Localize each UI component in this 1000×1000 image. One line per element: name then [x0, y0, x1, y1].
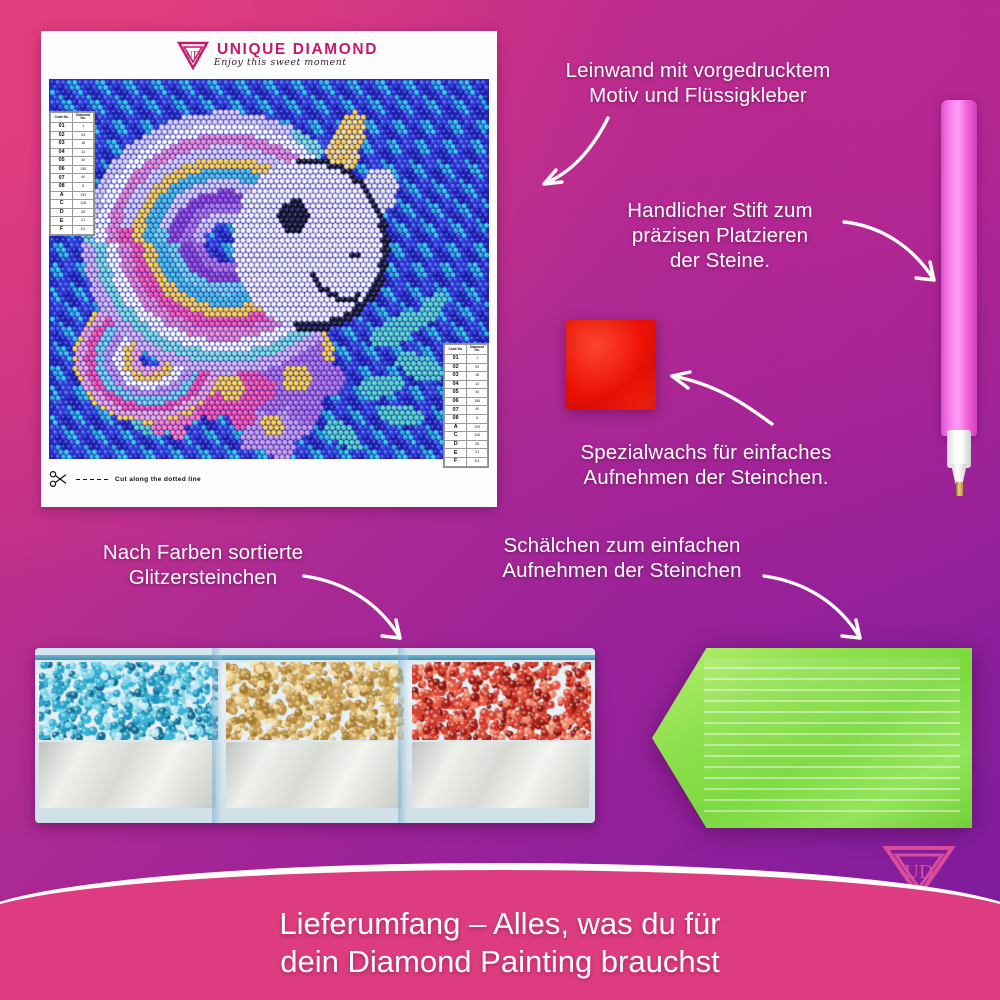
- legend-code: 06: [445, 397, 467, 406]
- cut-instruction-text: Cut along the dotted line: [115, 476, 201, 483]
- brand-tagline: Enjoy this sweet moment: [214, 59, 347, 68]
- legend-row: D26: [51, 208, 94, 217]
- legend-row: 0293: [445, 363, 488, 372]
- legend-count: 193: [73, 191, 94, 200]
- legend-code: 04: [51, 148, 73, 157]
- legend-code: 05: [51, 157, 73, 166]
- tray-grooves: [704, 658, 960, 818]
- bag-label: [412, 742, 589, 808]
- legend-row: 0318: [51, 140, 94, 149]
- pen-body: [941, 100, 977, 436]
- tray-groove: [704, 777, 960, 779]
- legend-count: 21: [73, 217, 94, 226]
- banner-line-2: dein Diamond Painting brauchst: [279, 943, 720, 981]
- unique-diamond-logo-icon: UD: [176, 40, 210, 70]
- legend-code: 02: [445, 363, 467, 372]
- legend-count: 118: [73, 200, 94, 209]
- legend-code: A: [445, 423, 467, 432]
- legend-count: 5: [73, 183, 94, 192]
- legend-header-code: Code No.: [51, 113, 73, 123]
- legend-row: 011: [51, 122, 94, 131]
- legend-code: 08: [51, 183, 73, 192]
- legend-count: 26: [73, 208, 94, 217]
- tray-groove: [704, 799, 960, 801]
- bag-beads: [226, 662, 405, 740]
- legend-code: 03: [51, 140, 73, 149]
- legend-count: 18: [73, 140, 94, 149]
- tray-body: [652, 648, 972, 828]
- pen-neck: [947, 430, 971, 468]
- legend-count: 155: [467, 397, 488, 406]
- legend-code: 06: [51, 165, 73, 174]
- tray-groove: [704, 667, 960, 669]
- legend-code: C: [51, 200, 73, 209]
- legend-row: E21: [51, 217, 94, 226]
- legend-count: 26: [467, 440, 488, 449]
- legend-code: A: [51, 191, 73, 200]
- legend-count: 44: [73, 157, 94, 166]
- svg-text:UD: UD: [186, 50, 200, 61]
- wax-block: [566, 320, 656, 410]
- diamond-painting-pen: [941, 100, 977, 496]
- bottom-banner: Lieferumfang – Alles, was du für dein Di…: [0, 863, 1000, 1000]
- infographic-canvas: UD UNIQUE DIAMOND Enjoy this sweet momen…: [0, 0, 1000, 1000]
- bag-divider: [212, 648, 222, 823]
- legend-code: 02: [51, 131, 73, 140]
- legend-row: A193: [445, 423, 488, 432]
- legend-row: 0544: [445, 389, 488, 398]
- legend-count: 21: [467, 449, 488, 458]
- blue-beads-bag: [35, 648, 222, 823]
- bag-beads: [39, 662, 218, 740]
- legend-code: 01: [445, 354, 467, 363]
- legend-code: 08: [445, 415, 467, 424]
- unicorn-artwork: Code No. Diamond No. 0110293031804120544…: [49, 79, 489, 459]
- legend-row: 085: [51, 183, 94, 192]
- bag-zipper: [222, 655, 409, 660]
- legend-code: E: [51, 217, 73, 226]
- red-beads-bag: [408, 648, 595, 823]
- cut-line-row: Cut along the dotted line: [49, 471, 489, 487]
- bag-zipper: [35, 655, 222, 660]
- legend-row: E21: [445, 449, 488, 458]
- legend-count: 18: [467, 372, 488, 381]
- legend-code: F: [51, 226, 73, 235]
- legend-count: 1: [467, 354, 488, 363]
- legend-count: 155: [73, 165, 94, 174]
- legend-row: C118: [51, 200, 94, 209]
- dotted-line: [76, 479, 110, 480]
- legend-count: D1: [467, 458, 488, 467]
- legend-row: 0412: [445, 380, 488, 389]
- banner-line-1: Lieferumfang – Alles, was du für: [279, 905, 720, 943]
- legend-count: 93: [73, 131, 94, 140]
- bag-beads: [412, 662, 591, 740]
- tray-groove: [704, 788, 960, 790]
- legend-count: 40: [73, 174, 94, 183]
- bag-label: [226, 742, 403, 808]
- printed-canvas-card: UD UNIQUE DIAMOND Enjoy this sweet momen…: [41, 31, 497, 507]
- legend-row: 011: [445, 354, 488, 363]
- gold-beads-bag: [222, 648, 409, 823]
- legend-count: 193: [467, 423, 488, 432]
- tray-groove: [704, 678, 960, 680]
- legend-row: FD1: [51, 226, 94, 235]
- legend-code: 05: [445, 389, 467, 398]
- mosaic-layer: [49, 79, 489, 459]
- label-wax: Spezialwachs für einfaches Aufnehmen der…: [516, 440, 896, 490]
- legend-code: C: [445, 432, 467, 441]
- legend-header-count: Diamond No.: [73, 113, 94, 123]
- arrow-to-tray: [760, 570, 880, 660]
- legend-row: 06155: [445, 397, 488, 406]
- legend-row: 0293: [51, 131, 94, 140]
- legend-row: 085: [445, 415, 488, 424]
- tray-groove: [704, 744, 960, 746]
- pen-cone: [951, 464, 967, 484]
- tray-groove: [704, 755, 960, 757]
- bag-divider: [398, 648, 408, 823]
- legend-row: 06155: [51, 165, 94, 174]
- legend-row: C118: [445, 432, 488, 441]
- bag-label: [39, 742, 216, 808]
- legend-count: 1: [73, 122, 94, 131]
- legend-code: 01: [51, 122, 73, 131]
- legend-row: A193: [51, 191, 94, 200]
- label-canvas: Leinwand mit vorgedrucktem Motiv und Flü…: [512, 58, 884, 108]
- scissors-icon: [49, 471, 71, 487]
- legend-row: 0740: [51, 174, 94, 183]
- label-tray: Schälchen zum einfachen Aufnehmen der St…: [448, 533, 796, 583]
- legend-count: 40: [467, 406, 488, 415]
- arrow-to-canvas: [500, 110, 620, 200]
- tray-groove: [704, 722, 960, 724]
- legend-code: E: [445, 449, 467, 458]
- tray-groove: [704, 700, 960, 702]
- tray-groove: [704, 766, 960, 768]
- legend-code: 07: [51, 174, 73, 183]
- pen-metal-tip: [956, 482, 963, 496]
- brand-name: UNIQUE DIAMOND: [217, 42, 378, 58]
- legend-count: 12: [467, 380, 488, 389]
- legend-row: D26: [445, 440, 488, 449]
- legend-row: 0412: [51, 148, 94, 157]
- legend-row: 0318: [445, 372, 488, 381]
- legend-count: 118: [467, 432, 488, 441]
- rhinestone-mosaic: [49, 79, 489, 459]
- color-legend-left: Code No. Diamond No. 0110293031804120544…: [49, 111, 95, 236]
- legend-code: F: [445, 458, 467, 467]
- badge-text: UD: [905, 861, 934, 883]
- legend-row: FD1: [445, 458, 488, 467]
- tray-groove: [704, 711, 960, 713]
- label-beads: Nach Farben sortierte Glitzersteinchen: [38, 540, 368, 590]
- legend-code: 03: [445, 372, 467, 381]
- bag-zipper: [408, 655, 595, 660]
- legend-code: D: [51, 208, 73, 217]
- legend-count: D1: [73, 226, 94, 235]
- legend-count: 44: [467, 389, 488, 398]
- label-pen: Handlicher Stift zum präzisen Platzieren…: [570, 198, 870, 273]
- legend-count: 5: [467, 415, 488, 424]
- sorted-bead-bags: [35, 648, 595, 823]
- bead-tray: [652, 648, 972, 828]
- legend-row: 0544: [51, 157, 94, 166]
- tray-groove: [704, 810, 960, 812]
- tray-groove: [704, 689, 960, 691]
- legend-header-code: Code No.: [445, 345, 467, 355]
- legend-row: 0740: [445, 406, 488, 415]
- color-legend-right: Code No. Diamond No. 0110293031804120544…: [443, 343, 489, 468]
- legend-header-count: Diamond No.: [467, 345, 488, 355]
- tray-groove: [704, 733, 960, 735]
- legend-code: D: [445, 440, 467, 449]
- arrow-to-wax: [660, 350, 780, 440]
- legend-count: 93: [467, 363, 488, 372]
- legend-code: 07: [445, 406, 467, 415]
- legend-count: 12: [73, 148, 94, 157]
- legend-code: 04: [445, 380, 467, 389]
- canvas-logo-bar: UD UNIQUE DIAMOND Enjoy this sweet momen…: [41, 31, 497, 79]
